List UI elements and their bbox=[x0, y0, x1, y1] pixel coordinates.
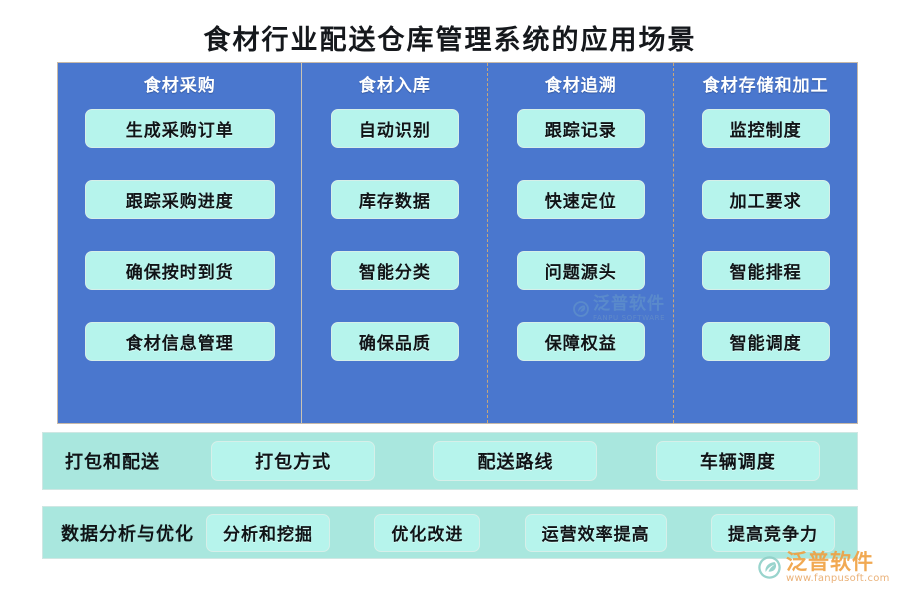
process-pill[interactable]: 监控制度 bbox=[702, 109, 830, 148]
band-packing-and-delivery: 打包和配送 打包方式 配送路线 车辆调度 bbox=[42, 432, 858, 490]
matrix-column-food-inbound: 食材入库 自动识别 库存数据 智能分类 确保品质 bbox=[302, 63, 487, 423]
process-pill[interactable]: 食材信息管理 bbox=[85, 322, 275, 361]
band-items: 打包方式 配送路线 车辆调度 bbox=[160, 441, 857, 481]
column-header: 食材采购 bbox=[144, 76, 216, 96]
matrix-column-food-storage-processing: 食材存储和加工 监控制度 加工要求 智能排程 智能调度 bbox=[674, 63, 857, 423]
band-pill[interactable]: 优化改进 bbox=[374, 514, 480, 552]
band-pill[interactable]: 车辆调度 bbox=[656, 441, 820, 481]
band-label: 打包和配送 bbox=[43, 448, 160, 474]
process-pill[interactable]: 智能分类 bbox=[331, 251, 459, 290]
process-pill[interactable]: 加工要求 bbox=[702, 180, 830, 219]
process-pill[interactable]: 智能排程 bbox=[702, 251, 830, 290]
diagram-canvas: 食材行业配送仓库管理系统的应用场景 食材采购 生成采购订单 跟踪采购进度 确保按… bbox=[0, 0, 900, 600]
matrix-column-food-traceability: 食材追溯 跟踪记录 快速定位 问题源头 保障权益 bbox=[488, 63, 673, 423]
process-pill[interactable]: 确保按时到货 bbox=[85, 251, 275, 290]
page-title: 食材行业配送仓库管理系统的应用场景 bbox=[0, 18, 900, 57]
band-pill[interactable]: 提高竞争力 bbox=[711, 514, 835, 552]
process-pill[interactable]: 确保品质 bbox=[331, 322, 459, 361]
process-pill[interactable]: 跟踪记录 bbox=[517, 109, 645, 148]
band-items: 分析和挖掘 优化改进 运营效率提高 提高竞争力 bbox=[194, 514, 857, 552]
process-pill[interactable]: 保障权益 bbox=[517, 322, 645, 361]
column-header: 食材追溯 bbox=[545, 76, 617, 96]
band-label: 数据分析与优化 bbox=[43, 520, 194, 546]
process-pill[interactable]: 智能调度 bbox=[702, 322, 830, 361]
band-pill[interactable]: 配送路线 bbox=[433, 441, 597, 481]
process-pill[interactable]: 库存数据 bbox=[331, 180, 459, 219]
process-pill[interactable]: 生成采购订单 bbox=[85, 109, 275, 148]
process-matrix-panel: 食材采购 生成采购订单 跟踪采购进度 确保按时到货 食材信息管理 食材入库 自动… bbox=[57, 62, 858, 424]
band-data-analysis-optimization: 数据分析与优化 分析和挖掘 优化改进 运营效率提高 提高竞争力 bbox=[42, 506, 858, 559]
process-pill[interactable]: 快速定位 bbox=[517, 180, 645, 219]
column-header: 食材入库 bbox=[359, 76, 431, 96]
process-pill[interactable]: 问题源头 bbox=[517, 251, 645, 290]
matrix-column-food-purchasing: 食材采购 生成采购订单 跟踪采购进度 确保按时到货 食材信息管理 bbox=[58, 63, 301, 423]
band-pill[interactable]: 运营效率提高 bbox=[525, 514, 667, 552]
fanpu-logo-icon bbox=[757, 555, 782, 580]
band-pill[interactable]: 打包方式 bbox=[211, 441, 375, 481]
column-header: 食材存储和加工 bbox=[703, 76, 829, 96]
band-pill[interactable]: 分析和挖掘 bbox=[206, 514, 330, 552]
process-pill[interactable]: 跟踪采购进度 bbox=[85, 180, 275, 219]
watermark-sub: www.fanpusoft.com bbox=[786, 574, 890, 585]
process-pill[interactable]: 自动识别 bbox=[331, 109, 459, 148]
